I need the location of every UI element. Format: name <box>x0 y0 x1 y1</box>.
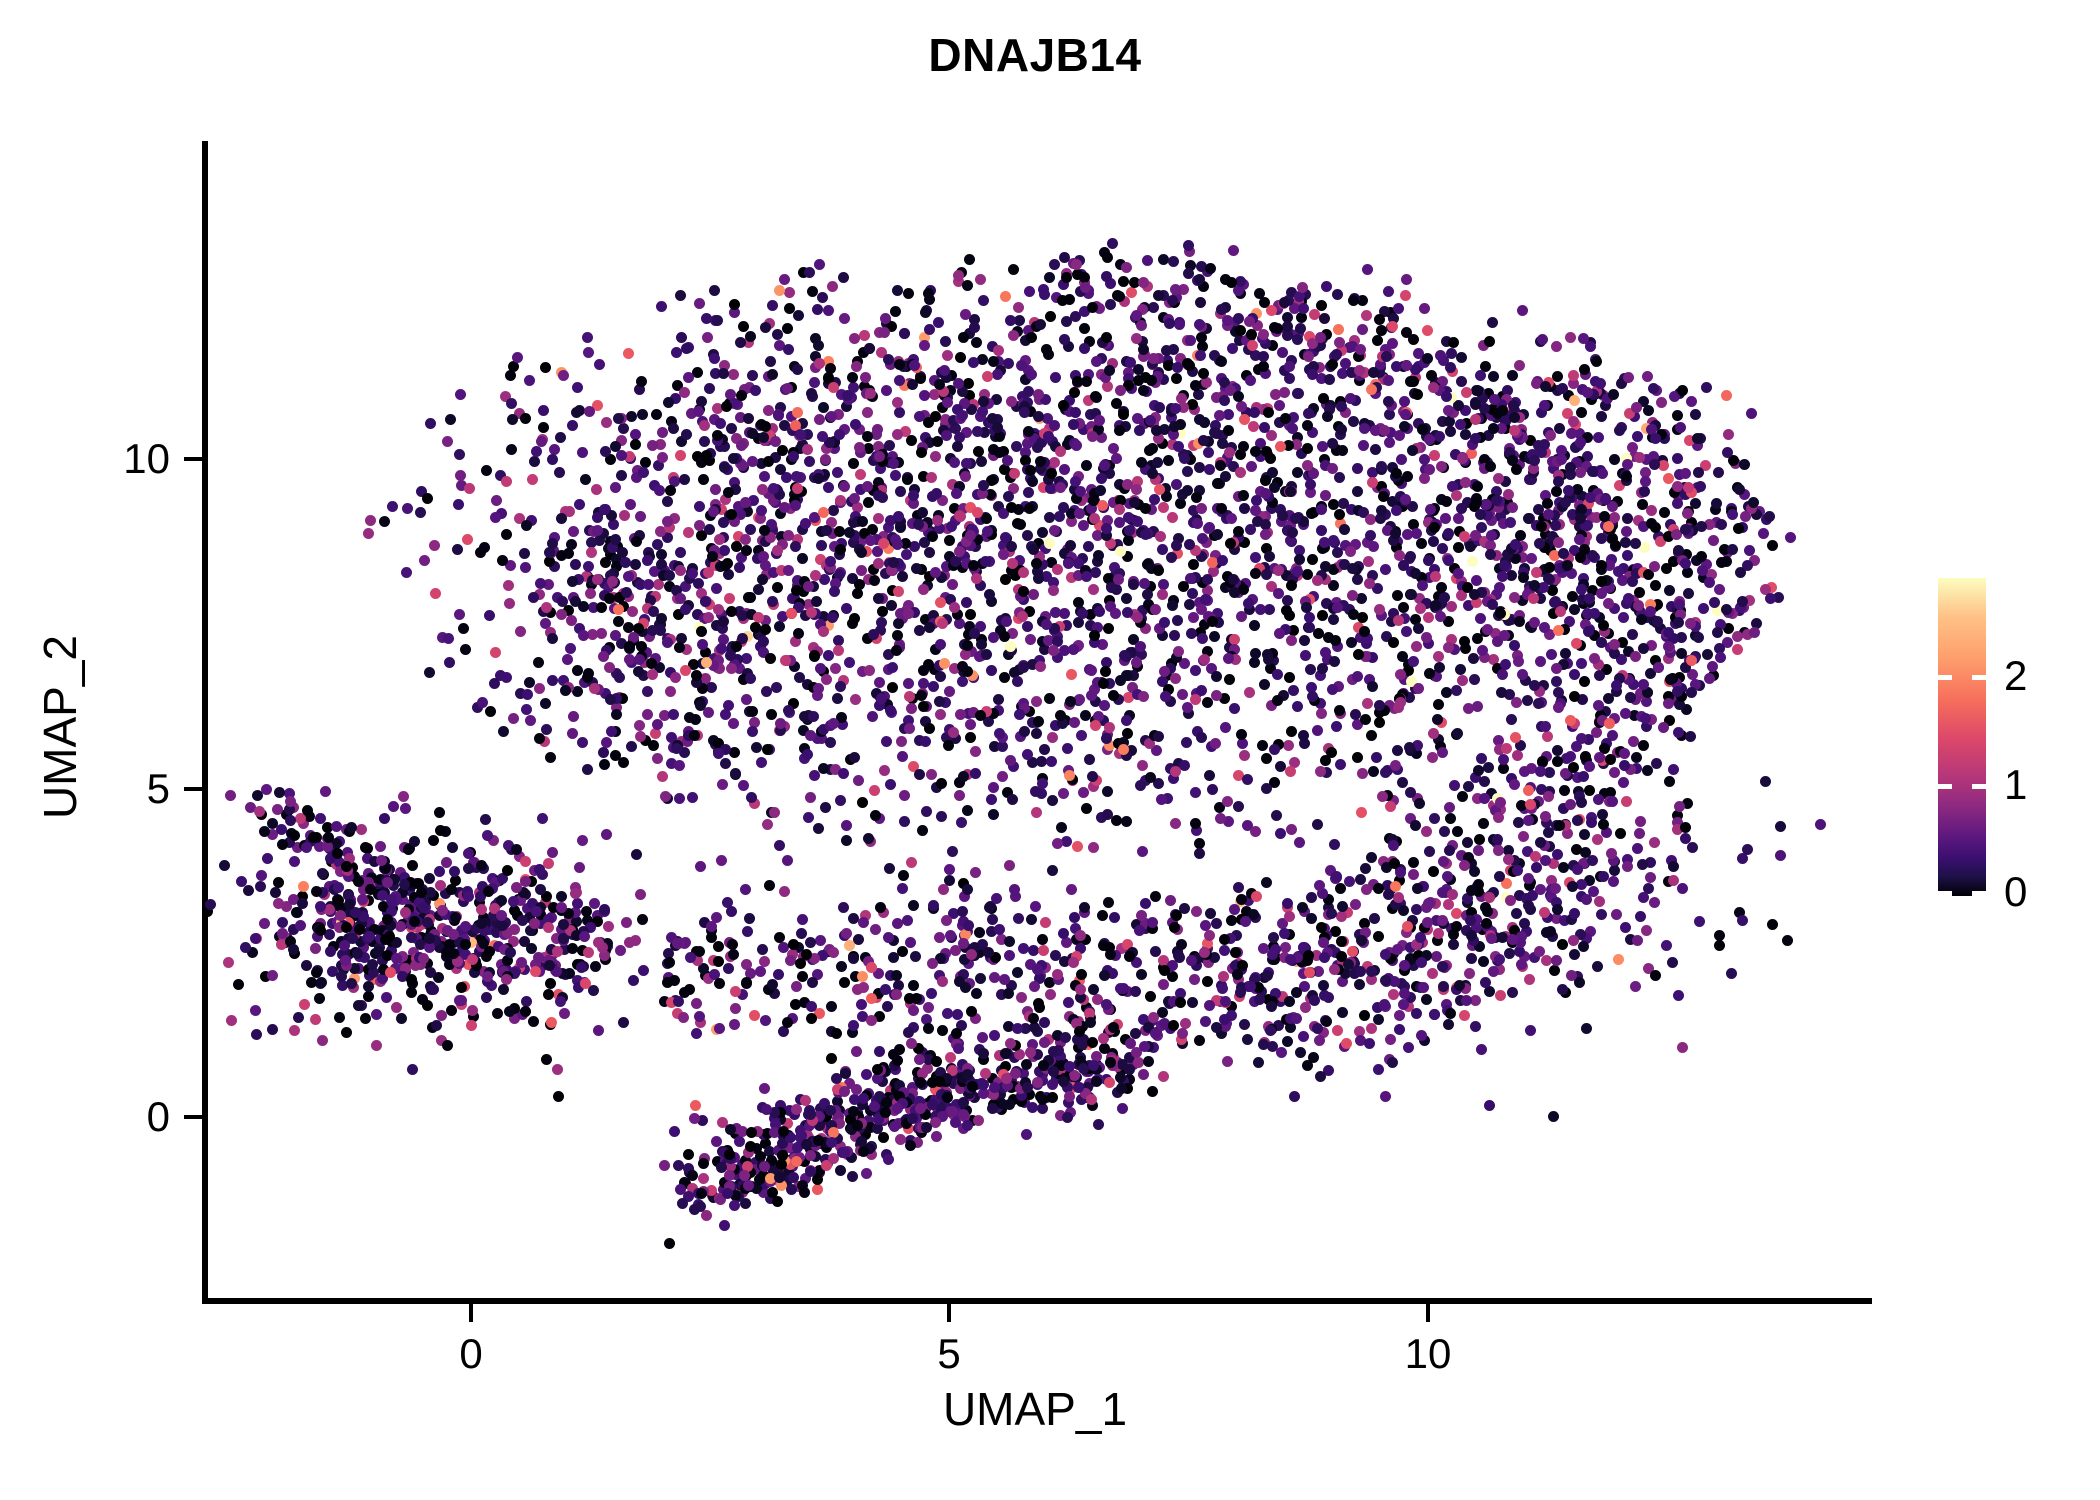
scatter-point <box>1049 259 1060 270</box>
scatter-point <box>625 499 636 510</box>
scatter-point <box>1282 595 1293 606</box>
scatter-point <box>1303 950 1314 961</box>
scatter-point <box>1307 554 1318 565</box>
scatter-point <box>771 682 782 693</box>
scatter-point <box>747 370 758 381</box>
scatter-point <box>1478 818 1489 829</box>
scatter-point <box>735 337 746 348</box>
scatter-point <box>453 499 464 510</box>
scatter-point <box>1481 918 1492 929</box>
scatter-point <box>914 769 925 780</box>
scatter-point <box>1000 291 1011 302</box>
scatter-point <box>1233 801 1244 812</box>
scatter-point <box>1652 616 1663 627</box>
scatter-point <box>1320 647 1331 658</box>
scatter-point <box>637 409 648 420</box>
scatter-point <box>1205 263 1216 274</box>
scatter-point <box>1362 264 1373 275</box>
scatter-point <box>743 413 754 424</box>
scatter-point <box>832 693 843 704</box>
scatter-point <box>908 490 919 501</box>
scatter-point <box>1191 906 1202 917</box>
scatter-point <box>1692 433 1703 444</box>
scatter-point <box>957 906 968 917</box>
scatter-point <box>1603 693 1614 704</box>
scatter-point <box>988 356 999 367</box>
scatter-point <box>736 440 747 451</box>
scatter-point <box>1448 939 1459 950</box>
scatter-point <box>1569 669 1580 680</box>
scatter-point <box>1707 661 1718 672</box>
scatter-point <box>713 748 724 759</box>
scatter-point <box>854 442 865 453</box>
scatter-point <box>920 307 931 318</box>
scatter-point <box>1579 364 1590 375</box>
scatter-point <box>947 846 958 857</box>
scatter-point <box>651 409 662 420</box>
scatter-point <box>790 500 801 511</box>
scatter-point <box>1384 409 1395 420</box>
scatter-point <box>460 644 471 655</box>
scatter-point <box>1632 935 1643 946</box>
scatter-point <box>724 593 735 604</box>
scatter-point <box>1516 959 1527 970</box>
scatter-point <box>978 295 989 306</box>
scatter-point <box>687 792 698 803</box>
scatter-point <box>1088 584 1099 595</box>
scatter-point <box>1434 431 1445 442</box>
scatter-point <box>1309 995 1320 1006</box>
scatter-point <box>707 551 718 562</box>
scatter-point <box>1486 530 1497 541</box>
scatter-point <box>903 288 914 299</box>
scatter-point <box>1746 408 1757 419</box>
scatter-point <box>675 593 686 604</box>
scatter-point <box>1014 709 1025 720</box>
scatter-point <box>1584 761 1595 772</box>
scatter-point <box>772 329 783 340</box>
y-tick-label-0: 0 <box>60 1093 170 1141</box>
scatter-point <box>906 435 917 446</box>
scatter-point <box>910 951 921 962</box>
scatter-point <box>668 709 679 720</box>
scatter-point <box>740 884 751 895</box>
scatter-point <box>547 538 558 549</box>
scatter-point <box>838 768 849 779</box>
scatter-point <box>1399 396 1410 407</box>
scatter-point <box>1348 416 1359 427</box>
scatter-point <box>1209 427 1220 438</box>
scatter-point <box>932 436 943 447</box>
scatter-point <box>893 511 904 522</box>
scatter-point <box>1451 490 1462 501</box>
scatter-point <box>1334 337 1345 348</box>
scatter-point <box>701 313 712 324</box>
scatter-point <box>1548 1111 1559 1122</box>
scatter-point <box>630 439 641 450</box>
scatter-point <box>1500 659 1511 670</box>
scatter-point <box>1567 881 1578 892</box>
scatter-point <box>1245 375 1256 386</box>
scatter-point <box>1017 611 1028 622</box>
scatter-point <box>1211 671 1222 682</box>
scatter-point <box>1270 389 1281 400</box>
scatter-point <box>1304 622 1315 633</box>
scatter-point <box>759 471 770 482</box>
scatter-point <box>664 570 675 581</box>
scatter-point <box>1104 722 1115 733</box>
scatter-point <box>604 593 615 604</box>
scatter-point <box>1368 367 1379 378</box>
scatter-point <box>1565 332 1576 343</box>
scatter-point <box>572 382 583 393</box>
scatter-point <box>1061 836 1072 847</box>
scatter-point <box>1467 556 1478 567</box>
scatter-point <box>1673 617 1684 628</box>
scatter-point <box>891 645 902 656</box>
scatter-point <box>1250 568 1261 579</box>
scatter-point <box>1224 674 1235 685</box>
scatter-point <box>1526 553 1537 564</box>
scatter-point <box>1319 313 1330 324</box>
scatter-point <box>1663 698 1674 709</box>
scatter-point <box>1259 422 1270 433</box>
scatter-point <box>662 637 673 648</box>
scatter-point <box>1672 498 1683 509</box>
scatter-point <box>728 369 739 380</box>
scatter-point <box>694 501 705 512</box>
scatter-point <box>1453 542 1464 553</box>
scatter-point <box>1145 772 1156 783</box>
scatter-point <box>890 470 901 481</box>
scatter-point <box>504 598 515 609</box>
scatter-point <box>1464 968 1475 979</box>
scatter-point <box>955 511 966 522</box>
scatter-point <box>1488 423 1499 434</box>
scatter-point <box>997 771 1008 782</box>
scatter-point <box>1226 513 1237 524</box>
scatter-point <box>1360 714 1371 725</box>
scatter-point <box>899 790 910 801</box>
scatter-point <box>1356 935 1367 946</box>
scatter-point <box>1609 767 1620 778</box>
scatter-point <box>1463 781 1474 792</box>
scatter-point <box>1457 675 1468 686</box>
scatter-point <box>1027 476 1038 487</box>
scatter-point <box>988 632 999 643</box>
scatter-point <box>528 592 539 603</box>
scatter-point <box>1614 425 1625 436</box>
scatter-point <box>783 565 794 576</box>
scatter-point <box>1535 837 1546 848</box>
scatter-point <box>1597 468 1608 479</box>
scatter-point <box>919 340 930 351</box>
scatter-point <box>1576 407 1587 418</box>
scatter-point <box>611 709 622 720</box>
scatter-point <box>1374 700 1385 711</box>
scatter-point <box>663 397 674 408</box>
scatter-point <box>1263 407 1274 418</box>
scatter-point <box>1416 957 1427 968</box>
scatter-point <box>1160 691 1171 702</box>
scatter-point <box>1359 1010 1370 1021</box>
scatter-point <box>881 385 892 396</box>
scatter-point <box>1690 409 1701 420</box>
scatter-point <box>1103 623 1114 634</box>
scatter-point <box>893 586 904 597</box>
scatter-point <box>955 352 966 363</box>
scatter-point <box>1285 766 1296 777</box>
scatter-point <box>1059 608 1070 619</box>
scatter-point <box>1019 726 1030 737</box>
scatter-point <box>1347 563 1358 574</box>
scatter-point <box>648 606 659 617</box>
scatter-point <box>1013 913 1024 924</box>
scatter-point <box>1642 371 1653 382</box>
scatter-point <box>1258 351 1269 362</box>
scatter-point <box>1102 786 1113 797</box>
scatter-point <box>1549 597 1560 608</box>
scatter-point <box>1767 540 1778 551</box>
scatter-point <box>584 406 595 417</box>
scatter-point <box>1147 468 1158 479</box>
scatter-point <box>1445 813 1456 824</box>
scatter-point <box>1470 995 1481 1006</box>
scatter-point <box>919 390 930 401</box>
scatter-point <box>1075 930 1086 941</box>
scatter-point <box>760 624 771 635</box>
scatter-point <box>1399 960 1410 971</box>
scatter-point <box>1030 901 1041 912</box>
scatter-point <box>1575 437 1586 448</box>
scatter-point <box>1123 535 1134 546</box>
scatter-point <box>1760 776 1771 787</box>
scatter-point <box>1337 1007 1348 1018</box>
scatter-point <box>1352 486 1363 497</box>
scatter-point <box>1275 761 1286 772</box>
scatter-point <box>683 372 694 383</box>
scatter-point <box>873 513 884 524</box>
scatter-point <box>970 746 981 757</box>
scatter-point <box>1535 656 1546 667</box>
scatter-point <box>1513 817 1524 828</box>
scatter-point <box>862 431 873 442</box>
scatter-point <box>618 423 629 434</box>
scatter-point <box>1388 840 1399 851</box>
scatter-point <box>698 474 709 485</box>
scatter-point <box>1058 502 1069 513</box>
scatter-point <box>805 937 816 948</box>
scatter-point <box>1476 1044 1487 1055</box>
scatter-point <box>1357 768 1368 779</box>
scatter-point <box>520 562 531 573</box>
scatter-point <box>1361 310 1372 321</box>
scatter-point <box>694 298 705 309</box>
scatter-point <box>462 534 473 545</box>
scatter-point <box>965 719 976 730</box>
scatter-point <box>1222 796 1233 807</box>
scatter-point <box>1539 907 1550 918</box>
scatter-point <box>1081 460 1092 471</box>
scatter-point <box>577 835 588 846</box>
scatter-point <box>1301 602 1312 613</box>
scatter-point <box>1680 822 1691 833</box>
scatter-point <box>1363 556 1374 567</box>
scatter-point <box>1261 877 1272 888</box>
scatter-point <box>813 473 824 484</box>
scatter-point <box>1421 826 1432 837</box>
scatter-point <box>1439 826 1450 837</box>
scatter-point <box>800 518 811 529</box>
scatter-point <box>1171 479 1182 490</box>
scatter-point <box>896 736 907 747</box>
scatter-point <box>897 883 908 894</box>
scatter-point <box>1095 485 1106 496</box>
scatter-point <box>767 300 778 311</box>
scatter-point <box>277 917 288 928</box>
scatter-point <box>1204 1000 1215 1011</box>
scatter-point <box>1508 400 1519 411</box>
scatter-point <box>833 645 844 656</box>
scatter-point <box>1387 321 1398 332</box>
scatter-point <box>1063 558 1074 569</box>
scatter-point <box>1400 409 1411 420</box>
scatter-point <box>1494 871 1505 882</box>
scatter-point <box>1332 547 1343 558</box>
scatter-point <box>844 940 855 951</box>
scatter-point <box>908 900 919 911</box>
scatter-point <box>1135 780 1146 791</box>
scatter-point <box>481 465 492 476</box>
scatter-point <box>424 667 435 678</box>
scatter-point <box>1484 892 1495 903</box>
scatter-point <box>961 458 972 469</box>
scatter-point <box>1273 588 1284 599</box>
scatter-point <box>742 926 753 937</box>
scatter-point <box>1592 834 1603 845</box>
scatter-point <box>1566 970 1577 981</box>
scatter-point <box>1133 375 1144 386</box>
scatter-point <box>1571 638 1582 649</box>
scatter-point <box>741 545 752 556</box>
scatter-point <box>783 530 794 541</box>
scatter-point <box>1044 272 1055 283</box>
scatter-point <box>873 558 884 569</box>
scatter-point <box>1685 731 1696 742</box>
scatter-point <box>371 1009 382 1020</box>
scatter-point <box>766 709 777 720</box>
scatter-point <box>1579 829 1590 840</box>
scatter-point <box>1346 637 1357 648</box>
scatter-point <box>635 511 646 522</box>
scatter-point <box>803 581 814 592</box>
scatter-point <box>1408 869 1419 880</box>
scatter-point <box>1566 428 1577 439</box>
scatter-point <box>1037 527 1048 538</box>
scatter-point <box>1274 400 1285 411</box>
scatter-point <box>1682 508 1693 519</box>
scatter-point <box>1059 464 1070 475</box>
scatter-point <box>905 937 916 948</box>
scatter-point <box>1687 842 1698 853</box>
scatter-point <box>1578 941 1589 952</box>
scatter-point <box>1322 411 1333 422</box>
scatter-point <box>1599 511 1610 522</box>
scatter-point <box>1026 914 1037 925</box>
scatter-point <box>1645 606 1656 617</box>
scatter-point <box>1215 460 1226 471</box>
scatter-point <box>1219 395 1230 406</box>
scatter-point <box>1212 529 1223 540</box>
scatter-point <box>544 556 555 567</box>
y-tick-mark-0 <box>184 1115 202 1119</box>
scatter-point <box>1329 839 1340 850</box>
scatter-point <box>1617 575 1628 586</box>
scatter-point <box>1603 598 1614 609</box>
scatter-point <box>1131 484 1142 495</box>
scatter-point <box>1354 979 1365 990</box>
scatter-point <box>817 292 828 303</box>
scatter-point <box>1651 758 1662 769</box>
scatter-point <box>1302 443 1313 454</box>
scatter-point <box>945 930 956 941</box>
scatter-point <box>1328 614 1339 625</box>
scatter-point <box>1088 984 1099 995</box>
scatter-point <box>1507 370 1518 381</box>
scatter-point <box>1588 886 1599 897</box>
scatter-point <box>981 649 992 660</box>
scatter-point <box>1635 911 1646 922</box>
scatter-point <box>1551 676 1562 687</box>
scatter-point <box>1088 842 1099 853</box>
scatter-point <box>1287 423 1298 434</box>
y-tick-mark-5 <box>184 787 202 791</box>
scatter-point <box>1024 503 1035 514</box>
scatter-point <box>943 740 954 751</box>
scatter-point <box>793 628 804 639</box>
scatter-point <box>630 559 641 570</box>
scatter-point <box>991 893 1002 904</box>
scatter-point <box>734 562 745 573</box>
scatter-point <box>1422 917 1433 928</box>
scatter-point <box>1068 419 1079 430</box>
scatter-point <box>1336 424 1347 435</box>
scatter-point <box>647 669 658 680</box>
scatter-point <box>1433 928 1444 939</box>
scatter-point <box>874 677 885 688</box>
scatter-point <box>1079 343 1090 354</box>
scatter-point <box>527 474 538 485</box>
scatter-point <box>1059 252 1070 263</box>
scatter-point <box>1632 843 1643 854</box>
scatter-point <box>452 544 463 555</box>
scatter-point <box>1104 365 1115 376</box>
scatter-point <box>757 574 768 585</box>
scatter-point <box>744 913 755 924</box>
scatter-point <box>1422 353 1433 364</box>
scatter-point <box>430 588 441 599</box>
scatter-point <box>1264 551 1275 562</box>
scatter-point <box>1257 740 1268 751</box>
scatter-point <box>1649 561 1660 572</box>
scatter-point <box>1391 361 1402 372</box>
scatter-point <box>704 383 715 394</box>
scatter-point <box>1437 961 1448 972</box>
scatter-point <box>1680 468 1691 479</box>
scatter-point <box>1078 787 1089 798</box>
scatter-point <box>1304 612 1315 623</box>
scatter-point <box>623 348 634 359</box>
